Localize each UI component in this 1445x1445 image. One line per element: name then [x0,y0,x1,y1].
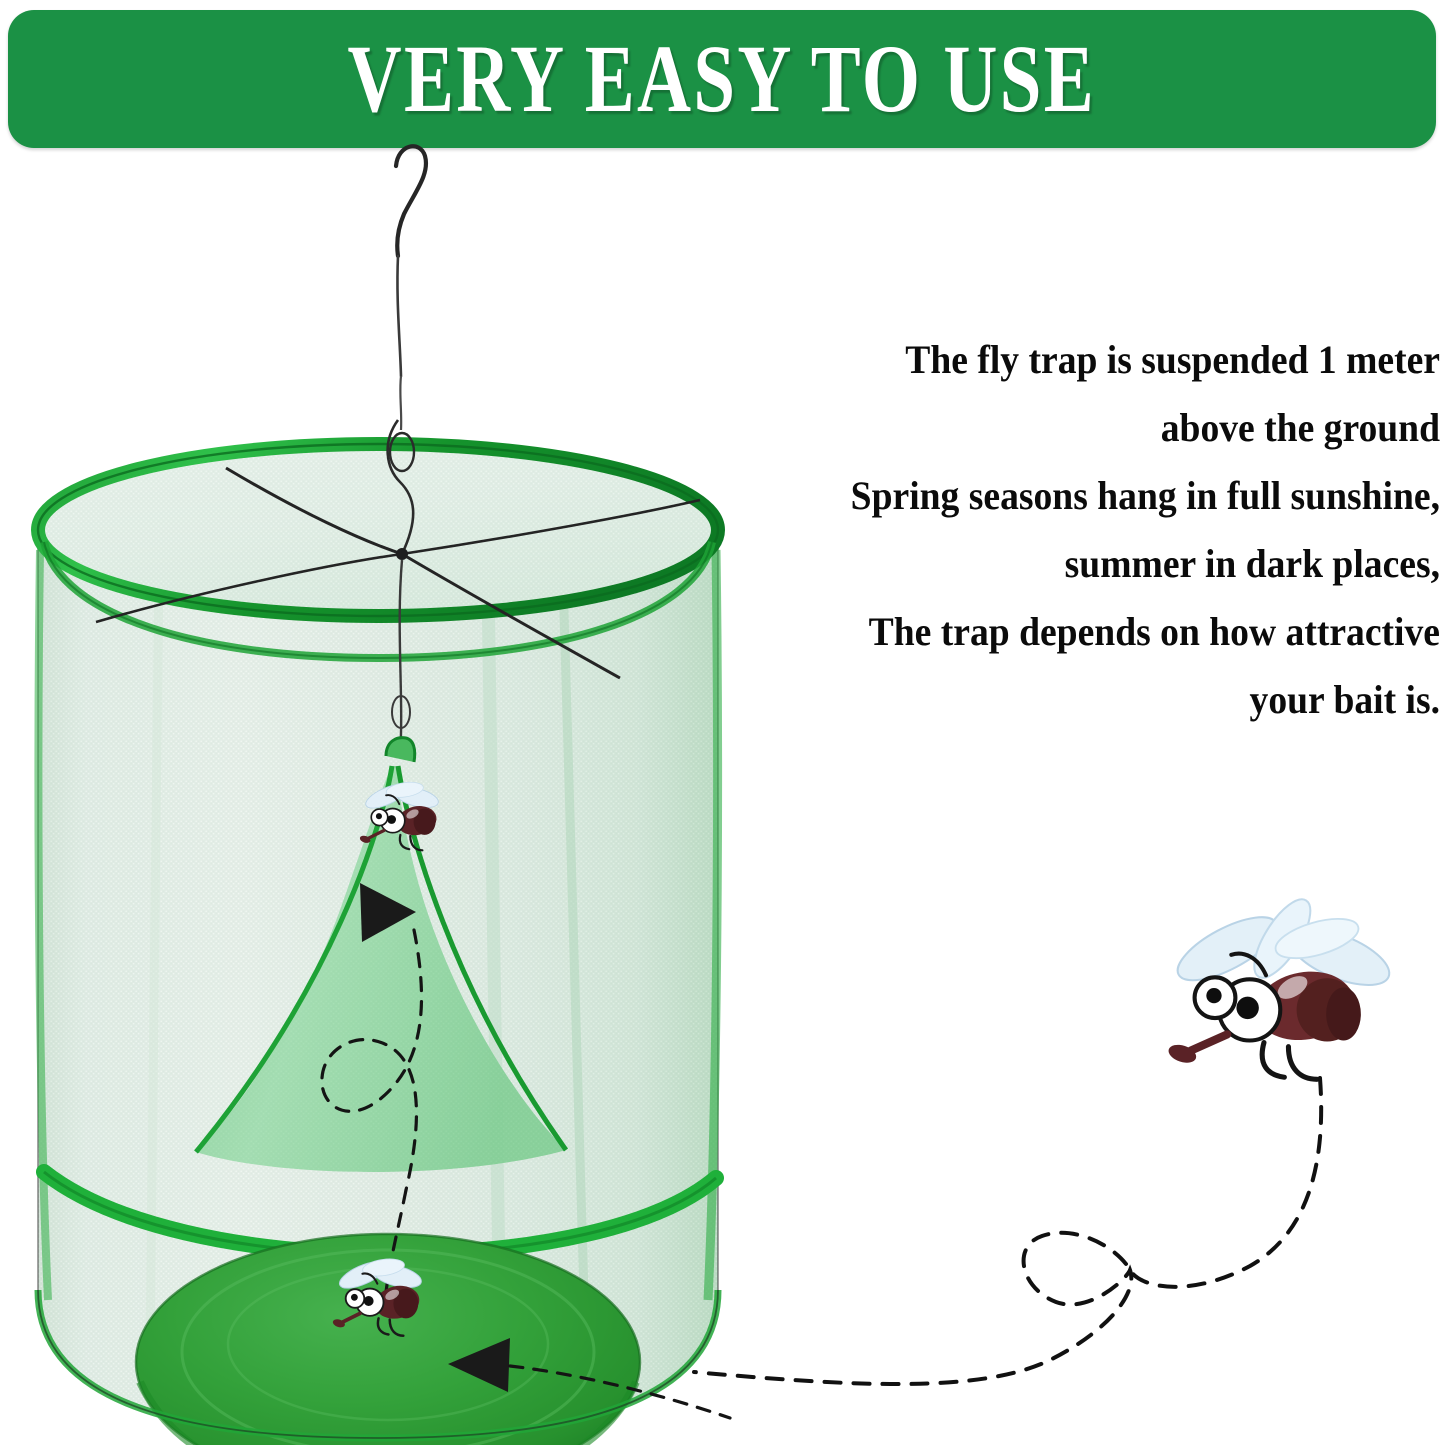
instruction-line-2: above the ground [801,394,1440,462]
suspension-wire [397,256,401,430]
hanging-hook [396,146,426,256]
header-banner: VERY EASY TO USE [8,10,1436,148]
fly-trap-illustration [0,130,780,1445]
instruction-line-3: Spring seasons hang in full sunshine, [801,462,1440,530]
instructions-text-block: The fly trap is suspended 1 meter above … [760,326,1440,734]
instruction-line-5: The trap depends on how attractive [801,598,1440,666]
instruction-line-4: summer in dark places, [801,530,1440,598]
instruction-line-6: your bait is. [801,666,1440,734]
flight-path-outside [690,1030,1390,1445]
instruction-line-1: The fly trap is suspended 1 meter [801,326,1440,394]
page-title: VERY EASY TO USE [348,31,1096,127]
flight-path-curve [694,1078,1321,1384]
